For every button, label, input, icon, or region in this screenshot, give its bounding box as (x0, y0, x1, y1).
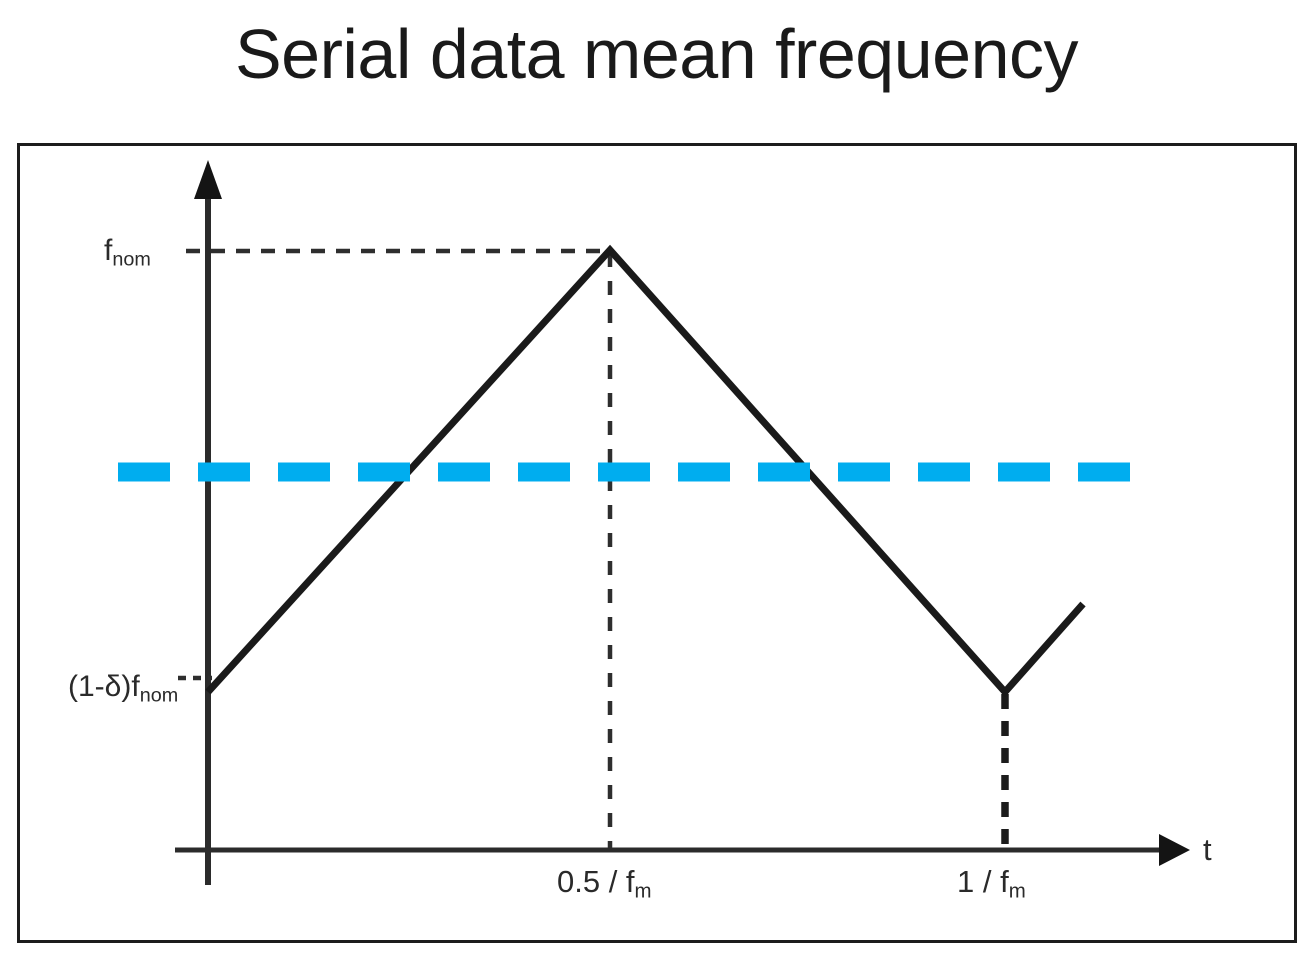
page-title: Serial data mean frequency (0, 18, 1313, 92)
x-tick-label-half-fm: 0.5 / fm (557, 866, 652, 897)
y-label-fnom-low-sub: nom (140, 685, 178, 707)
x-tick-half-sub: m (635, 880, 652, 903)
figure-frame (17, 143, 1297, 943)
y-label-fnom-low: (1-δ)fnom (68, 672, 178, 702)
x-tick-label-one-fm: 1 / fm (957, 866, 1026, 897)
y-label-fnom: fnom (104, 236, 151, 266)
x-axis-label: t (1203, 834, 1212, 865)
x-tick-one-main: 1 / f (957, 864, 1009, 899)
x-tick-half-main: 0.5 / f (557, 864, 635, 899)
y-label-fnom-sub: nom (112, 249, 150, 271)
figure-page: Serial data mean frequency fnom (1-δ)fno… (0, 0, 1313, 965)
x-tick-one-sub: m (1009, 880, 1026, 903)
y-label-fnom-low-main: (1-δ)f (68, 670, 140, 703)
